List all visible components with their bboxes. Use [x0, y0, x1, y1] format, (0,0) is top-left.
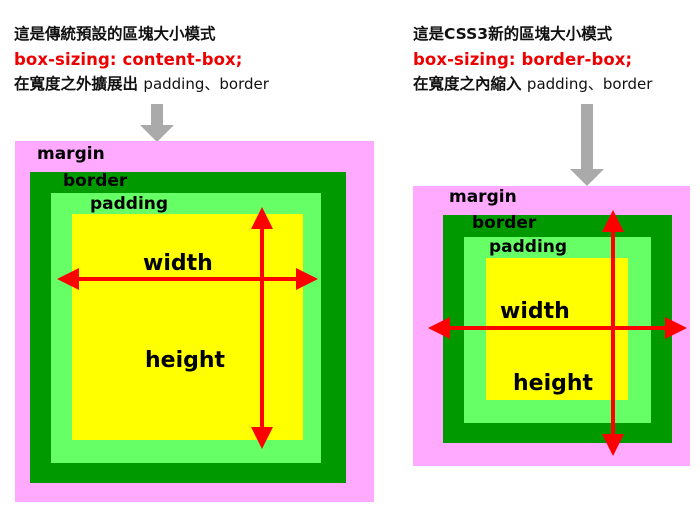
left-caption-line-3-bold: 在寬度之外擴展出	[14, 75, 138, 93]
height-label: height	[513, 371, 593, 396]
arrow-shaft	[151, 104, 163, 126]
border-box-diagram: margin border padding width height	[413, 186, 690, 466]
right-caption-line-3: 在寬度之內縮入 padding、border	[413, 72, 652, 97]
border-label: border	[63, 171, 127, 191]
right-caption-code: box-sizing: border-box;	[413, 47, 652, 72]
right-caption: 這是CSS3新的區塊大小模式 box-sizing: border-box; 在…	[413, 22, 652, 97]
padding-label: padding	[90, 194, 168, 214]
arrow-head-right	[665, 317, 687, 339]
arrow-head-left	[428, 317, 450, 339]
arrow-line	[611, 224, 615, 442]
arrow-head-right	[296, 268, 318, 290]
arrow-head-left	[57, 268, 79, 290]
right-caption-line-3-bold: 在寬度之內縮入	[413, 75, 522, 93]
margin-label: margin	[449, 187, 517, 207]
down-arrow-icon	[140, 104, 174, 142]
left-caption-line-3-plain: padding、border	[143, 75, 268, 93]
margin-label: margin	[37, 144, 105, 164]
border-label: border	[472, 213, 536, 233]
down-arrow-icon	[570, 104, 604, 186]
arrow-line	[442, 326, 673, 330]
left-caption-line-1: 這是傳統預設的區塊大小模式	[14, 22, 269, 47]
padding-label: padding	[489, 237, 567, 257]
arrow-head	[570, 169, 604, 186]
left-caption: 這是傳統預設的區塊大小模式 box-sizing: content-box; 在…	[14, 22, 269, 97]
right-caption-line-1: 這是CSS3新的區塊大小模式	[413, 22, 652, 47]
arrow-head	[140, 125, 174, 142]
arrow-head-down	[602, 434, 624, 456]
arrow-head-up	[251, 207, 273, 229]
right-caption-line-3-plain: padding、border	[527, 75, 652, 93]
content-box-diagram: margin border padding width height	[15, 141, 374, 502]
arrow-head-up	[602, 210, 624, 232]
left-caption-code: box-sizing: content-box;	[14, 47, 269, 72]
height-arrow	[601, 210, 625, 456]
height-label: height	[145, 348, 225, 373]
arrow-shaft	[581, 104, 593, 170]
arrow-head-down	[251, 427, 273, 449]
height-arrow	[250, 207, 274, 449]
width-label: width	[500, 299, 570, 324]
arrow-line	[260, 221, 264, 435]
width-label: width	[143, 251, 213, 276]
left-caption-line-3: 在寬度之外擴展出 padding、border	[14, 72, 269, 97]
